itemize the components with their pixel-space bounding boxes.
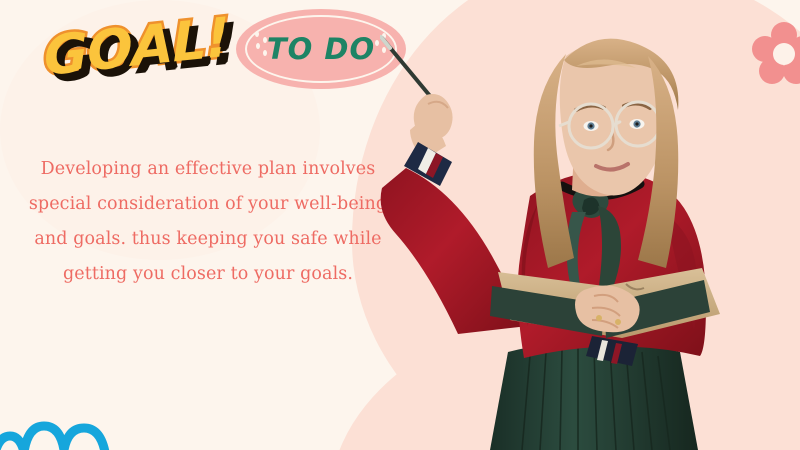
teacher-photo <box>380 0 800 450</box>
body-line-3: and goals. thus keeping you safe while <box>10 222 406 257</box>
cloud-blue-icon <box>0 418 122 450</box>
body-line-2: special consideration of your well-being <box>10 187 406 222</box>
slide-canvas: GOAL! TO DO Developing an effective plan… <box>0 0 800 450</box>
body-paragraph: Developing an effective plan involves sp… <box>10 152 406 292</box>
body-line-4: getting you closer to your goals. <box>10 257 406 292</box>
goal-headline: GOAL! <box>44 18 234 98</box>
body-line-1: Developing an effective plan involves <box>10 152 406 187</box>
goal-headline-text: GOAL! <box>43 0 235 96</box>
todo-badge-label: TO DO <box>267 32 375 66</box>
